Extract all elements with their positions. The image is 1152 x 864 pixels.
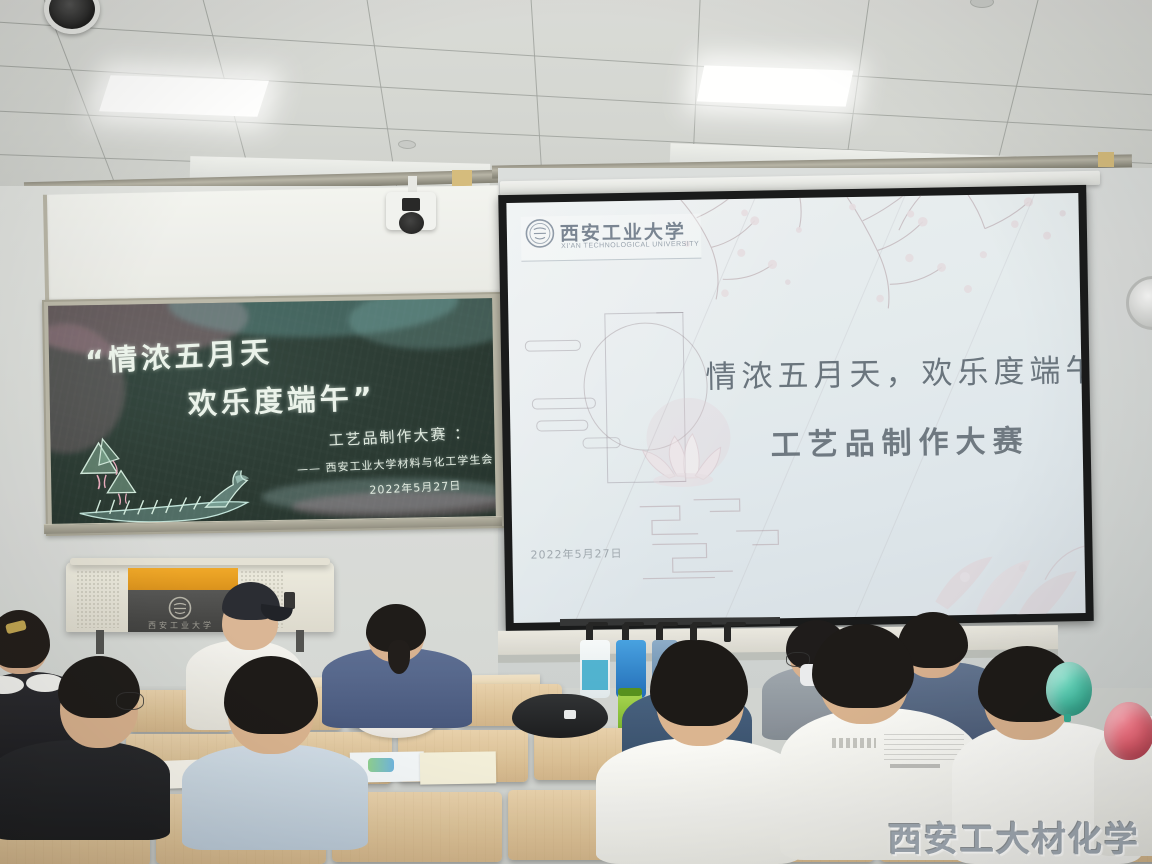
lectern-university-logo-icon xyxy=(168,596,192,620)
dispenser-pump-icon xyxy=(692,622,712,626)
slide-title-line-2: 工艺品制作大赛 xyxy=(770,416,1030,465)
ponytail xyxy=(388,640,410,674)
cloud-meander-decoration xyxy=(631,489,863,589)
lotus-flower-decoration xyxy=(626,397,738,491)
projector-lens-icon xyxy=(399,212,424,234)
person-lightblue-tee-torso xyxy=(182,744,368,850)
projection-screen-slide[interactable]: 西安工业大学 XI'AN TECHNOLOGICAL UNIVERSITY 情浓… xyxy=(506,193,1085,623)
black-backpack xyxy=(512,694,608,738)
green-tumbler-lid xyxy=(618,688,642,696)
pink-balloon xyxy=(1104,702,1152,760)
dispenser-pump-icon xyxy=(658,622,678,626)
tshirt-graphic-caption xyxy=(890,764,940,768)
lectern-accent-panel xyxy=(128,568,238,590)
dispenser-pump-icon xyxy=(726,622,746,626)
teal-balloon xyxy=(1046,662,1092,716)
lectern-top-lip xyxy=(70,558,330,565)
slide-bar-decoration xyxy=(536,420,588,432)
teal-balloon-knot xyxy=(1064,714,1071,722)
slide-bar-decoration xyxy=(532,397,596,409)
slide-title-line-1: 情浓五月天，欢乐度端午 xyxy=(705,345,1086,397)
lectern-logo-text: 西安工业大学 xyxy=(148,620,214,631)
notebook-artwork xyxy=(368,758,394,772)
lectern-leg xyxy=(96,630,104,654)
lectern-speaker-grille xyxy=(76,570,120,628)
dispenser-pump-icon xyxy=(624,622,644,626)
rail-bracket xyxy=(452,170,472,186)
dispenser-pump-icon xyxy=(588,622,608,626)
classroom-photo: “情浓五月天 欢乐度端午” 工艺品制作大赛 ： —— 西安工业大学材料与化工学生… xyxy=(0,0,1152,864)
blackboard-line-2: 欢乐度端午” xyxy=(187,375,376,424)
person-black-tee-torso xyxy=(0,740,170,840)
blackboard[interactable]: “情浓五月天 欢乐度端午” 工艺品制作大赛 ： —— 西安工业大学材料与化工学生… xyxy=(48,298,496,526)
bottom-flower-decoration xyxy=(903,479,1085,623)
backpack-tag xyxy=(564,710,576,719)
rail-bracket xyxy=(1098,152,1114,167)
eyeglasses xyxy=(116,692,144,710)
slide-date: 2022年5月27日 xyxy=(530,545,622,563)
person-white-tee-right-torso xyxy=(596,738,802,864)
ceiling-panel-light-left xyxy=(99,75,269,117)
lectern-leg xyxy=(296,630,304,652)
tshirt-graphic-illustration xyxy=(884,734,964,760)
notebook-sheet xyxy=(420,751,497,784)
projector-lens-icon xyxy=(402,198,420,211)
ceiling-panel-light-right xyxy=(697,65,854,106)
white-bottle-label xyxy=(582,660,608,690)
slide-bar-decoration xyxy=(525,340,581,352)
slide-bar-decoration xyxy=(582,437,620,449)
dragon-boat-chalk-drawing xyxy=(75,470,276,526)
watermark: 西安工大材化学院 xyxy=(888,812,1152,864)
tshirt-graphic-plan-a xyxy=(832,738,876,748)
dispenser-pump-icon xyxy=(724,624,731,642)
